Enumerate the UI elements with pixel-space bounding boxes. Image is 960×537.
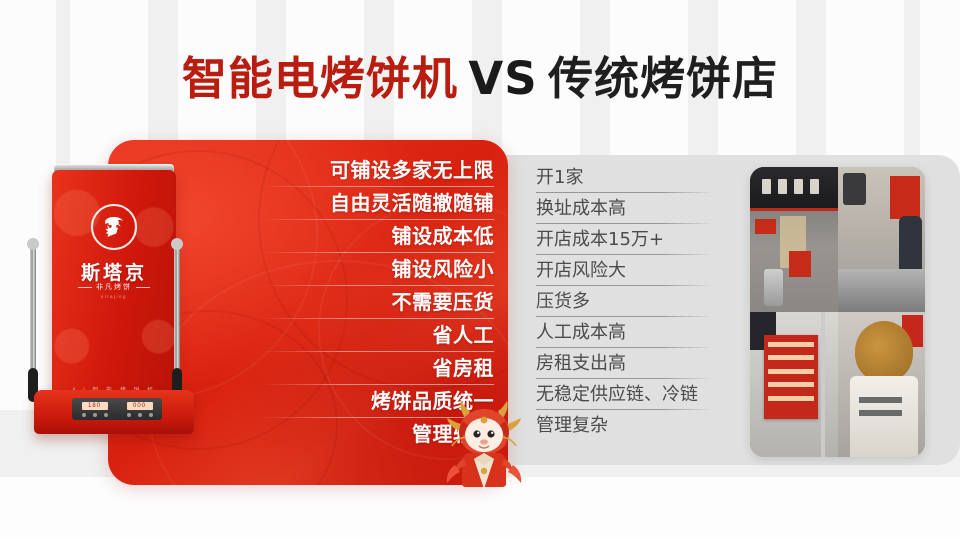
smart-pancake-machine-image: 斯塔京 非凡烤饼 sitajing A I 智 能 烤 饼 机 180 000: [24, 162, 204, 432]
machine-body: 斯塔京 非凡烤饼 sitajing A I 智 能 烤 饼 机: [52, 170, 176, 408]
machine-press-arm-left[interactable]: [30, 246, 36, 396]
machine-display-left: 180: [82, 402, 108, 417]
list-item: 开店成本15万+: [536, 224, 736, 255]
machine-display-left-value: 180: [82, 402, 108, 410]
list-item: 无稳定供应链、冷链: [536, 379, 736, 410]
list-item: 不需要压货: [258, 286, 494, 319]
machine-display-right-value: 000: [127, 402, 153, 410]
list-item: 铺设成本低: [258, 220, 494, 253]
list-item: 开1家: [536, 162, 736, 193]
traditional-shop-list: 开1家 换址成本高 开店成本15万+ 开店风险大 压货多 人工成本高 房租支出高…: [536, 162, 736, 441]
title-rest: 传统烤饼店: [548, 52, 778, 105]
machine-led-row-right: [127, 413, 153, 417]
dragon-mascot: [441, 391, 527, 487]
list-item: 人工成本高: [536, 317, 736, 348]
traditional-shop-photo-collage: [750, 167, 925, 457]
machine-press-arm-right[interactable]: [174, 246, 180, 396]
list-item: 自由灵活随撤随铺: [258, 187, 494, 220]
machine-brand-name: 斯塔京: [52, 258, 176, 285]
photo-pancake-in-bag: [838, 312, 926, 457]
photo-kitchen-worker: [838, 167, 926, 312]
photo-price-board: [750, 312, 838, 457]
title-vs: VS: [462, 52, 543, 105]
machine-brand-pinyin: sitajing: [52, 294, 176, 299]
list-item: 省房租: [258, 352, 494, 385]
dragon-head-logo: [91, 204, 137, 250]
list-item: 开店风险大: [536, 255, 736, 286]
list-item: 换址成本高: [536, 193, 736, 224]
machine-brand-sub: 非凡烤饼: [52, 282, 176, 292]
page-title: 智能电烤饼机 VS 传统烤饼店: [0, 42, 960, 107]
list-item: 铺设风险小: [258, 253, 494, 286]
machine-brand-sub-text: 非凡烤饼: [96, 283, 132, 291]
title-highlight: 智能电烤饼机: [182, 52, 458, 105]
machine-base: 180 000: [34, 390, 194, 434]
machine-control-panel[interactable]: 180 000: [72, 398, 162, 420]
photo-shop-front: [750, 167, 838, 312]
slide-canvas: 智能电烤饼机 VS 传统烤饼店 可铺设多家无上限 自由灵活随撤随铺 铺设成本低 …: [0, 0, 960, 537]
machine-led-row-left: [82, 413, 108, 417]
list-item: 管理复杂: [536, 410, 736, 441]
list-item: 省人工: [258, 319, 494, 352]
machine-display-right: 000: [127, 402, 153, 417]
list-item: 可铺设多家无上限: [258, 154, 494, 187]
list-item: 压货多: [536, 286, 736, 317]
list-item: 房租支出高: [536, 348, 736, 379]
